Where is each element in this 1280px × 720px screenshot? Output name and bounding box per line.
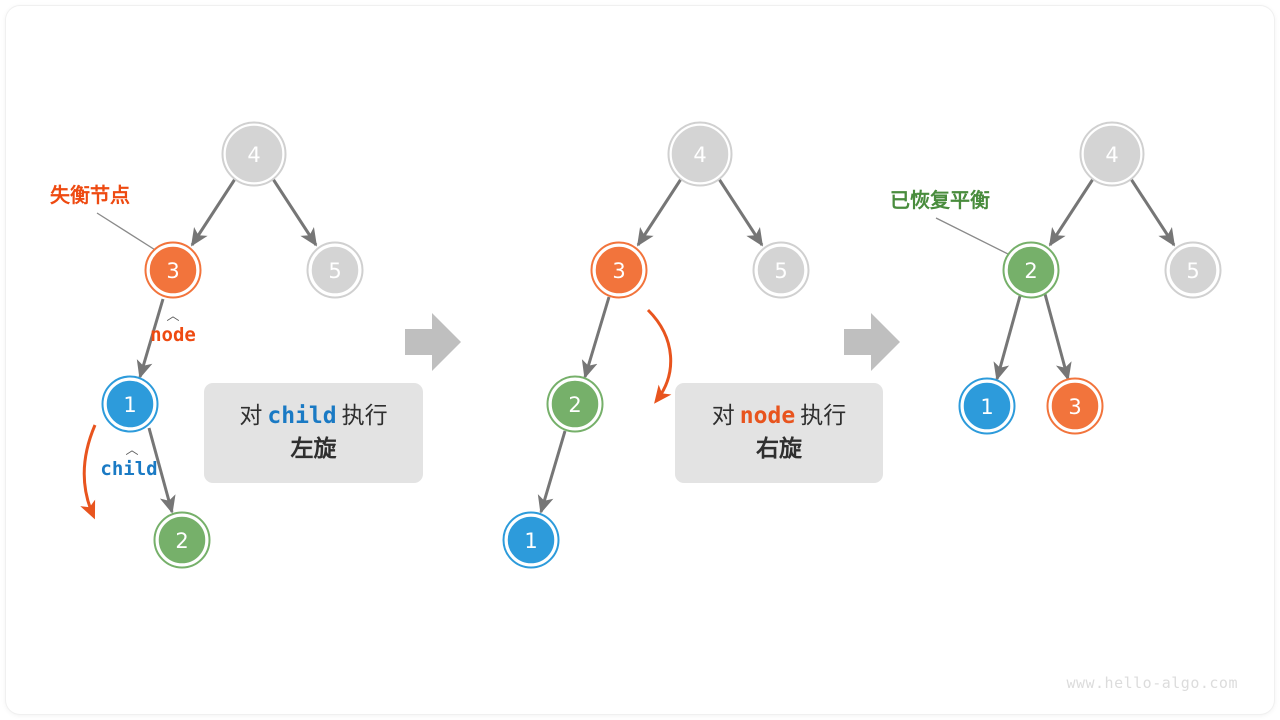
node-label: 3: [1068, 395, 1081, 419]
node-label: 2: [568, 393, 581, 417]
callout-left-rotation: 对child执行 左旋: [204, 383, 423, 483]
node-4[interactable]: 4: [669, 123, 732, 186]
node-label: 4: [693, 143, 706, 167]
node-label: 2: [175, 529, 188, 553]
caret-icon-node: ︿: [166, 309, 179, 324]
transition-arrow-1: [405, 313, 461, 371]
watermark-url: www.hello-algo.com: [1066, 674, 1238, 692]
panel-before: 4 3 5 1 2 失衡节点: [50, 123, 363, 568]
node-label: 5: [1186, 259, 1199, 283]
edge-2-1: [541, 431, 565, 512]
pointer-label-child: child: [100, 458, 157, 480]
node-5[interactable]: 5: [308, 243, 363, 298]
callout-keyword-child: child: [262, 403, 341, 429]
node-4[interactable]: 4: [1081, 123, 1144, 186]
panel-middle: 4 3 5 2 1: [504, 123, 809, 568]
pointer-label-node: node: [150, 324, 196, 346]
node-3[interactable]: 3: [146, 243, 201, 298]
callout-suffix: 执行: [342, 403, 388, 429]
node-label: 4: [247, 143, 260, 167]
caret-icon-child: ︿: [125, 443, 138, 458]
callout-line-1: 对node执行: [712, 401, 846, 432]
leader-line-rebalanced: [936, 218, 1012, 256]
callout-keyword-node: node: [735, 403, 800, 429]
leader-line-imbalanced: [97, 213, 160, 253]
callout-prefix: 对: [239, 403, 262, 429]
node-4[interactable]: 4: [223, 123, 286, 186]
node-1[interactable]: 1: [960, 379, 1015, 434]
node-3[interactable]: 3: [592, 243, 647, 298]
edge-4-3: [192, 179, 235, 245]
edge-4-5: [273, 179, 316, 245]
edge-4-3: [638, 179, 681, 245]
node-3[interactable]: 3: [1048, 379, 1103, 434]
node-5[interactable]: 5: [1166, 243, 1221, 298]
edge-4-5: [719, 179, 762, 245]
annotation-rebalanced: 已恢复平衡: [890, 188, 990, 212]
diagram-canvas: 4 3 5 1 2 失衡节点: [0, 0, 1280, 720]
node-label: 1: [980, 395, 993, 419]
node-1[interactable]: 1: [504, 513, 559, 568]
node-label: 1: [524, 529, 537, 553]
panel-after: 4 2 5 1 3 已恢复平衡: [890, 123, 1221, 434]
node-label: 3: [612, 259, 625, 283]
edge-4-5: [1131, 179, 1174, 245]
callout-prefix: 对: [712, 403, 735, 429]
rotation-arrow-left: [84, 425, 95, 515]
callout-line-1: 对child执行: [239, 401, 387, 432]
node-label: 5: [328, 259, 341, 283]
node-1[interactable]: 1: [103, 377, 158, 432]
node-label: 4: [1105, 143, 1118, 167]
node-2[interactable]: 2: [548, 377, 603, 432]
edge-4-2: [1050, 179, 1093, 245]
callout-right-rotation: 对node执行 右旋: [675, 383, 883, 483]
avl-rotation-diagram: 4 3 5 1 2 失衡节点: [0, 0, 1280, 720]
edge-2-3: [1045, 294, 1068, 379]
node-label: 2: [1024, 259, 1037, 283]
node-label: 1: [123, 393, 136, 417]
node-2[interactable]: 2: [1004, 243, 1059, 298]
callout-line-2: 右旋: [756, 434, 802, 465]
node-label: 3: [166, 259, 179, 283]
edge-2-1: [997, 296, 1020, 379]
transition-arrow-2: [844, 313, 900, 371]
edge-3-2: [585, 297, 609, 377]
node-label: 5: [774, 259, 787, 283]
rotation-arrow-right: [648, 310, 671, 400]
node-2[interactable]: 2: [155, 513, 210, 568]
callout-line-2: 左旋: [291, 434, 337, 465]
callout-suffix: 执行: [800, 403, 846, 429]
annotation-imbalanced-node: 失衡节点: [50, 183, 130, 207]
node-5[interactable]: 5: [754, 243, 809, 298]
